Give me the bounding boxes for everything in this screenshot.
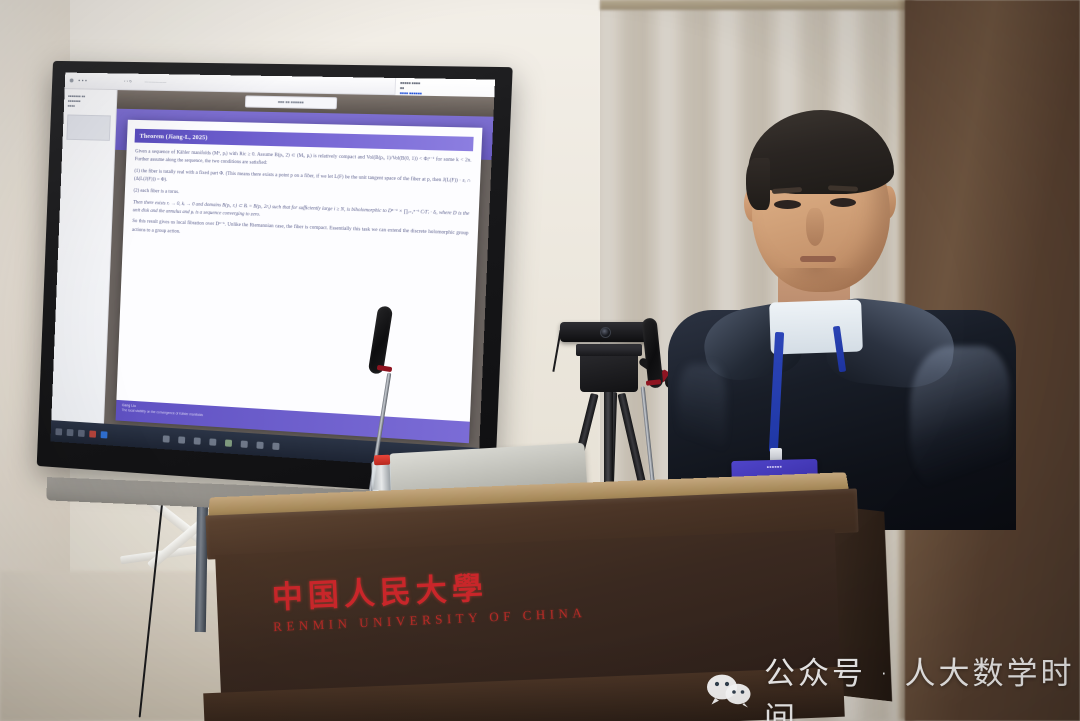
eye-left — [774, 200, 801, 209]
mouth — [800, 256, 836, 262]
address-bar[interactable]: —————— — [145, 80, 167, 84]
hair-sideburn — [746, 158, 770, 210]
app-2-icon[interactable] — [178, 436, 185, 443]
lectern: 中国人民大學 RENMIN UNIVERSITY OF CHINA — [196, 470, 886, 721]
mail-icon[interactable] — [89, 430, 96, 437]
nav-buttons[interactable]: ‹ › ↻ — [124, 79, 132, 83]
chin-shadow — [776, 268, 856, 290]
tripod-quick-plate — [576, 344, 642, 356]
app-6-icon[interactable] — [241, 440, 248, 447]
speaker: ■■■■■■ 张学杰 第六届复几何与微分几何国际学术会议 — [660, 96, 1020, 526]
viewer-page-pill[interactable]: ■■■ ■■ ■■■■■■ — [245, 95, 337, 109]
slide-title: Theorem (Jiang-L, 2025) — [139, 132, 207, 141]
slide-body: Given a sequence of Kähler manifolds (Mⁿ… — [123, 142, 481, 248]
wall-display: ● ● ● ‹ › ↻ —————— ■■■■■ ■■■■ ■■ ■■■■ ■■… — [36, 64, 506, 494]
titlebar-left-hint: ● ● ● — [78, 79, 87, 83]
presentation-slide: Theorem (Jiang-L, 2025) Given a sequence… — [116, 120, 483, 444]
tripod-head — [580, 352, 638, 392]
nose — [806, 208, 824, 246]
slide-thumbnail[interactable] — [66, 114, 110, 140]
app-7-icon[interactable] — [256, 441, 263, 448]
window-dot-icon — [70, 78, 74, 82]
eye-right — [830, 198, 856, 207]
camera-lens-icon — [600, 327, 611, 338]
start-icon[interactable] — [55, 428, 62, 435]
jacket-highlight-left — [678, 364, 726, 474]
task-view-icon[interactable] — [78, 429, 85, 436]
water-bottle-cap — [374, 455, 390, 466]
search-icon[interactable] — [67, 428, 74, 435]
photo-scene: ● ● ● ‹ › ↻ —————— ■■■■■ ■■■■ ■■ ■■■■ ■■… — [0, 0, 1080, 721]
browser-icon[interactable] — [101, 431, 108, 438]
taskbar-left-group[interactable] — [51, 427, 108, 438]
app-5-icon[interactable] — [225, 439, 232, 446]
app-8-icon[interactable] — [272, 442, 279, 449]
app-4-icon[interactable] — [209, 438, 216, 445]
screen[interactable]: ● ● ● ‹ › ↻ —————— ■■■■■ ■■■■ ■■ ■■■■ ■■… — [50, 73, 495, 471]
sidebar-line-3: ■■■■ — [68, 104, 113, 110]
taskbar-tray-group[interactable] — [163, 435, 280, 450]
document-viewport: ■■■ ■■ ■■■■■■ Theorem (Jiang-L, 2025) Gi… — [104, 90, 494, 448]
curtain-rod — [600, 0, 910, 10]
app-1-icon[interactable] — [163, 435, 170, 442]
jacket-highlight-right — [910, 346, 1010, 496]
app-3-icon[interactable] — [194, 437, 201, 444]
